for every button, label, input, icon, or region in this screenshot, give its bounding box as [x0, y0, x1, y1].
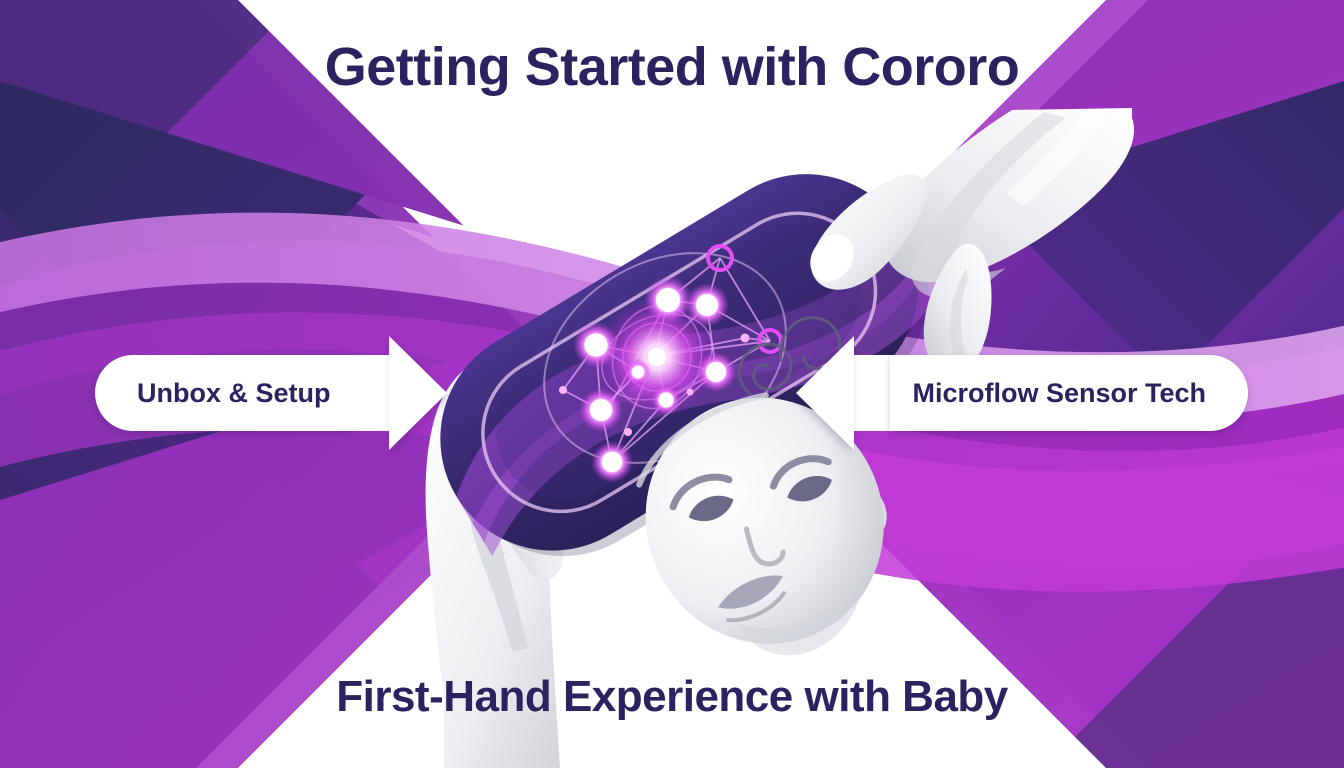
- arrow-left-icon: [796, 336, 854, 450]
- infographic-canvas: Getting Started with Cororo First-Hand E…: [0, 0, 1344, 768]
- page-title: Getting Started with Cororo: [0, 36, 1344, 98]
- callout-left-label: Unbox & Setup: [137, 380, 331, 407]
- callout-microflow-sensor-tech[interactable]: Microflow Sensor Tech: [796, 355, 1248, 431]
- arrow-right-shaft: [352, 355, 390, 431]
- footer-caption: First-Hand Experience with Baby: [0, 672, 1344, 722]
- arrow-right-icon: [389, 336, 447, 450]
- callout-right-pill[interactable]: Microflow Sensor Tech: [890, 355, 1248, 431]
- callout-unbox-setup[interactable]: Unbox & Setup: [95, 355, 447, 431]
- callout-right-label: Microflow Sensor Tech: [912, 380, 1206, 407]
- arrow-left-shaft: [853, 355, 891, 431]
- callout-left-pill[interactable]: Unbox & Setup: [95, 355, 353, 431]
